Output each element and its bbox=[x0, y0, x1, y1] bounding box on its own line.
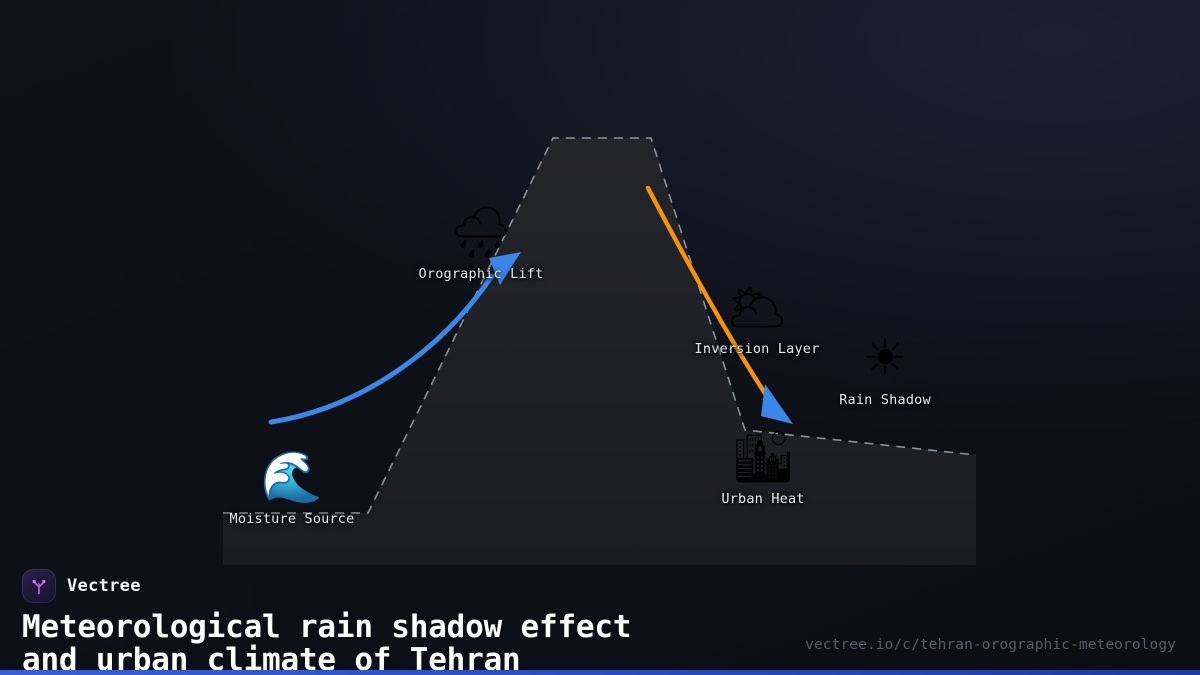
cityscape-icon: 🏙 bbox=[731, 432, 794, 482]
vectree-logo-icon bbox=[22, 569, 56, 603]
brand-name: Vectree bbox=[67, 576, 141, 596]
node-urban-heat[interactable]: 🏙 Urban Heat bbox=[721, 432, 804, 507]
cloud-layer-icon: 🌥 bbox=[725, 282, 788, 332]
node-inversion-layer[interactable]: 🌥 Inversion Layer bbox=[695, 282, 820, 357]
node-label-urban-heat: Urban Heat bbox=[721, 491, 804, 507]
node-label-rain-shadow: Rain Shadow bbox=[839, 392, 931, 408]
node-label-inversion-layer: Inversion Layer bbox=[695, 341, 820, 357]
page-title: Meteorological rain shadow effect and ur… bbox=[22, 611, 631, 675]
ocean-wave-icon: 🌊 bbox=[261, 452, 323, 502]
accent-bar bbox=[0, 670, 1200, 675]
brand-row[interactable]: Vectree bbox=[22, 569, 141, 603]
node-rain-shadow[interactable]: ☀ Rain Shadow bbox=[839, 333, 931, 408]
orange-descending-arrow-head bbox=[761, 384, 793, 424]
site-url: vectree.io/c/tehran-orographic-meteorolo… bbox=[805, 637, 1176, 653]
node-orographic-lift[interactable]: 🌧 Orographic Lift bbox=[419, 207, 544, 282]
rain-cloud-icon: 🌧 bbox=[449, 207, 512, 257]
footer-bar: Vectree Meteorological rain shadow effec… bbox=[0, 553, 1200, 675]
node-label-moisture-source: Moisture Source bbox=[230, 511, 355, 527]
vectree-logo-glyph bbox=[29, 576, 49, 596]
node-label-orographic-lift: Orographic Lift bbox=[419, 266, 544, 282]
node-moisture-source[interactable]: 🌊 Moisture Source bbox=[230, 452, 355, 527]
sun-icon: ☀ bbox=[863, 333, 908, 383]
infographic-canvas: 🌊 Moisture Source 🌧 Orographic Lift 🌥 In… bbox=[0, 0, 1200, 675]
